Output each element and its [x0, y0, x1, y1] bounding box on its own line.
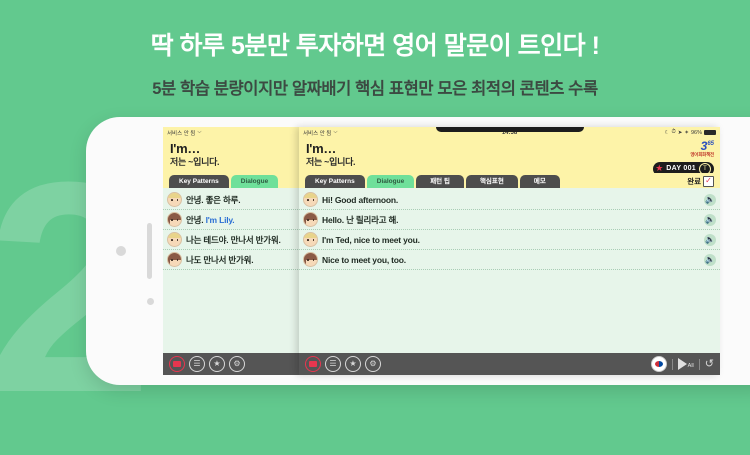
avatar — [167, 232, 182, 247]
tab-key-expressions[interactable]: 핵심표현 — [466, 175, 518, 188]
dialogue-text: Hi! Good afternoon. — [322, 195, 398, 205]
tab-key-patterns[interactable]: Key Patterns — [169, 175, 229, 188]
avatar — [303, 212, 318, 227]
toolbar-divider — [699, 359, 700, 370]
book-icon[interactable] — [169, 356, 185, 372]
status-bar-left-screen: 서비스 안 됨 ⌵ — [163, 127, 300, 138]
tab-pattern-tip[interactable]: 패턴 팁 — [416, 175, 464, 188]
dialogue-text: 나도 만나서 반가워. — [186, 254, 253, 266]
dialogue-highlight: I'm Lily. — [206, 215, 235, 225]
brand-tagline: 영어회화책전 — [653, 152, 714, 158]
status-indicators: ☾ ⏱ ➤ ✶ 96% — [665, 129, 716, 136]
dialogue-text: Nice to meet you, too. — [322, 255, 406, 265]
list-item[interactable]: 나도 만나서 반가워. — [163, 250, 300, 270]
tab-dialogue[interactable]: Dialogue — [367, 175, 414, 188]
tab-memo[interactable]: 메모 — [520, 175, 560, 188]
play-all-label: All — [688, 363, 694, 369]
app-screen-korean: 서비스 안 됨 ⌵ I'm… 저는 ~입니다. Key Patterns Dia… — [163, 127, 300, 375]
loop-icon[interactable]: ↺ — [705, 359, 714, 370]
app-header-left: I'm… 저는 ~입니다. — [163, 138, 300, 173]
wifi-icon: ⌵ — [197, 129, 201, 136]
book-icon[interactable] — [305, 356, 321, 372]
bottom-toolbar-left: ☰ ★ ⚙ — [163, 353, 300, 375]
dialogue-text: I'm Ted, nice to meet you. — [322, 235, 420, 245]
carrier-label: 서비스 안 됨 — [167, 129, 195, 137]
list-item[interactable]: I'm Ted, nice to meet you. 🔈 — [299, 230, 720, 250]
page-title: I'm… — [306, 141, 713, 156]
device-notch — [436, 127, 584, 132]
status-bar-main-screen: 서비스 안 됨 ⌵ 14:58 ☾ ⏱ ➤ ✶ 96% — [299, 127, 720, 138]
tab-dialogue[interactable]: Dialogue — [231, 175, 278, 188]
list-icon[interactable]: ☰ — [189, 356, 205, 372]
brand-block: 365 영어회화책전 ★ DAY 001 T — [653, 139, 714, 176]
tab-bar-left: Key Patterns Dialogue — [163, 173, 300, 188]
star-icon[interactable]: ★ — [345, 356, 361, 372]
tab-key-patterns[interactable]: Key Patterns — [305, 175, 365, 188]
location-arrow-icon: ➤ — [678, 130, 683, 136]
list-item[interactable]: 나는 테드야. 만나서 반가워. — [163, 230, 300, 250]
speaker-icon[interactable]: 🔈 — [704, 214, 716, 226]
play-icon — [678, 358, 687, 370]
avatar — [167, 212, 182, 227]
list-item[interactable]: 안녕. 좋은 하루. — [163, 190, 300, 210]
tab-bar-main: Key Patterns Dialogue 패턴 팁 핵심표현 메모 완료 ✓ — [299, 173, 720, 188]
dialogue-list-english: Hi! Good afternoon. 🔈 Hello. 난 릴리라고 해. 🔈… — [299, 188, 720, 270]
brand-logo: 365 — [653, 139, 714, 152]
bottom-toolbar-main: ☰ ★ ⚙ All ↺ — [299, 353, 720, 375]
avatar — [167, 192, 182, 207]
speaker-icon[interactable]: 🔈 — [704, 194, 716, 206]
home-button[interactable] — [116, 246, 126, 256]
star-icon: ★ — [655, 164, 663, 173]
app-header-main: I'm… 저는 ~입니다. 365 영어회화책전 ★ DAY 001 T — [299, 138, 720, 173]
dialogue-text: Hello. 난 릴리라고 해. — [322, 214, 398, 226]
dialogue-text: 안녕. I'm Lily. — [186, 214, 234, 226]
playback-controls: All ↺ — [651, 356, 714, 372]
avatar — [303, 192, 318, 207]
speaker-icon[interactable]: 🔈 — [704, 254, 716, 266]
done-control[interactable]: 완료 ✓ — [687, 176, 714, 188]
check-icon[interactable]: ✓ — [703, 176, 714, 187]
avatar — [167, 252, 182, 267]
front-camera — [147, 298, 154, 305]
dialogue-text: 나는 테드야. 만나서 반가워. — [186, 234, 281, 246]
gear-icon[interactable]: ⚙ — [365, 356, 381, 372]
star-icon[interactable]: ★ — [209, 356, 225, 372]
speaker-icon[interactable]: 🔈 — [704, 234, 716, 246]
dialogue-text: 안녕. 좋은 하루. — [186, 194, 240, 206]
promo-headline: 딱 하루 5분만 투자하면 영어 말문이 트인다 ! — [0, 0, 750, 62]
korean-flag-icon[interactable] — [651, 356, 667, 372]
moon-icon: ☾ — [665, 130, 670, 136]
battery-icon — [704, 130, 716, 135]
list-item[interactable]: 안녕. I'm Lily. — [163, 210, 300, 230]
list-item[interactable]: Hello. 난 릴리라고 해. 🔈 — [299, 210, 720, 230]
earpiece-speaker — [147, 223, 152, 279]
gear-icon[interactable]: ⚙ — [229, 356, 245, 372]
page-title: I'm… — [170, 141, 293, 156]
list-item[interactable]: Nice to meet you, too. 🔈 — [299, 250, 720, 270]
toolbar-divider — [672, 359, 673, 370]
page-subtitle: 저는 ~입니다. — [170, 156, 293, 168]
page-subtitle: 저는 ~입니다. — [306, 156, 713, 168]
day-label: DAY 001 — [666, 165, 696, 172]
list-icon[interactable]: ☰ — [325, 356, 341, 372]
promo-subheadline: 5분 학습 분량이지만 알짜배기 핵심 표현만 모은 최적의 콘텐츠 수록 — [0, 62, 750, 99]
done-label: 완료 — [687, 176, 701, 187]
promo-text-block: 딱 하루 5분만 투자하면 영어 말문이 트인다 ! 5분 학습 분량이지만 알… — [0, 0, 750, 99]
bluetooth-icon: ✶ — [684, 130, 689, 136]
list-item[interactable]: Hi! Good afternoon. 🔈 — [299, 190, 720, 210]
alarm-icon: ⏱ — [671, 129, 675, 136]
app-screen-english: 서비스 안 됨 ⌵ 14:58 ☾ ⏱ ➤ ✶ 96% I'm… 저는 ~입니다… — [299, 127, 720, 375]
play-all-button[interactable]: All — [678, 358, 694, 370]
battery-percent-label: 96% — [691, 130, 702, 136]
avatar — [303, 232, 318, 247]
dialogue-list-korean: 안녕. 좋은 하루. 안녕. I'm Lily. 나는 테드야. 만나서 반가워… — [163, 188, 300, 270]
avatar — [303, 252, 318, 267]
status-carrier-group: 서비스 안 됨 ⌵ — [167, 129, 202, 137]
